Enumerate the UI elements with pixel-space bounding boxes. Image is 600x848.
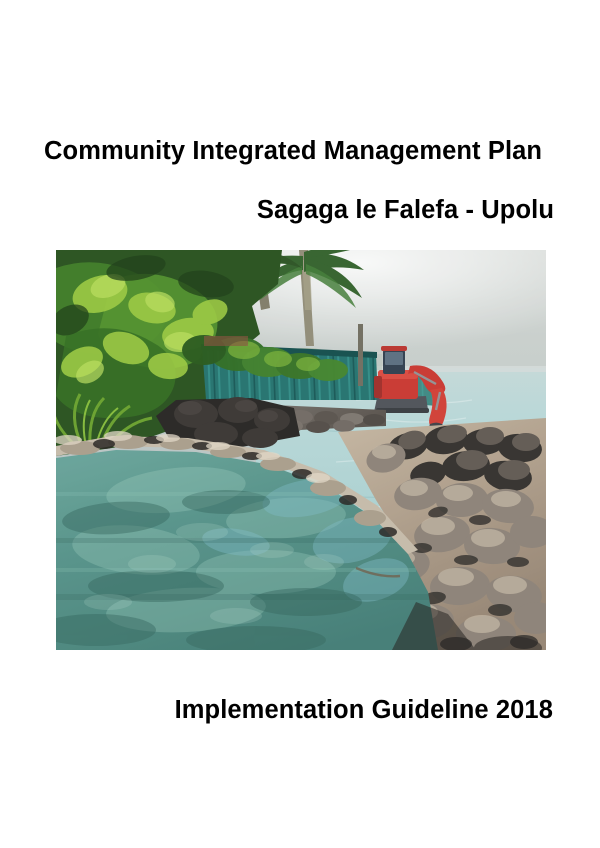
- cover-footer-block: Implementation Guideline 2018: [0, 695, 600, 725]
- cover-title-block: Community Integrated Management Plan Sag…: [0, 136, 600, 225]
- page-title-line-1: Community Integrated Management Plan: [0, 136, 600, 166]
- cover-photo: [56, 250, 546, 650]
- cover-photo-illustration: [56, 250, 546, 650]
- page-subtitle-line: Sagaga le Falefa - Upolu: [0, 195, 600, 225]
- document-edition-label: Implementation Guideline 2018: [0, 695, 600, 725]
- cover-page: Community Integrated Management Plan Sag…: [0, 0, 600, 848]
